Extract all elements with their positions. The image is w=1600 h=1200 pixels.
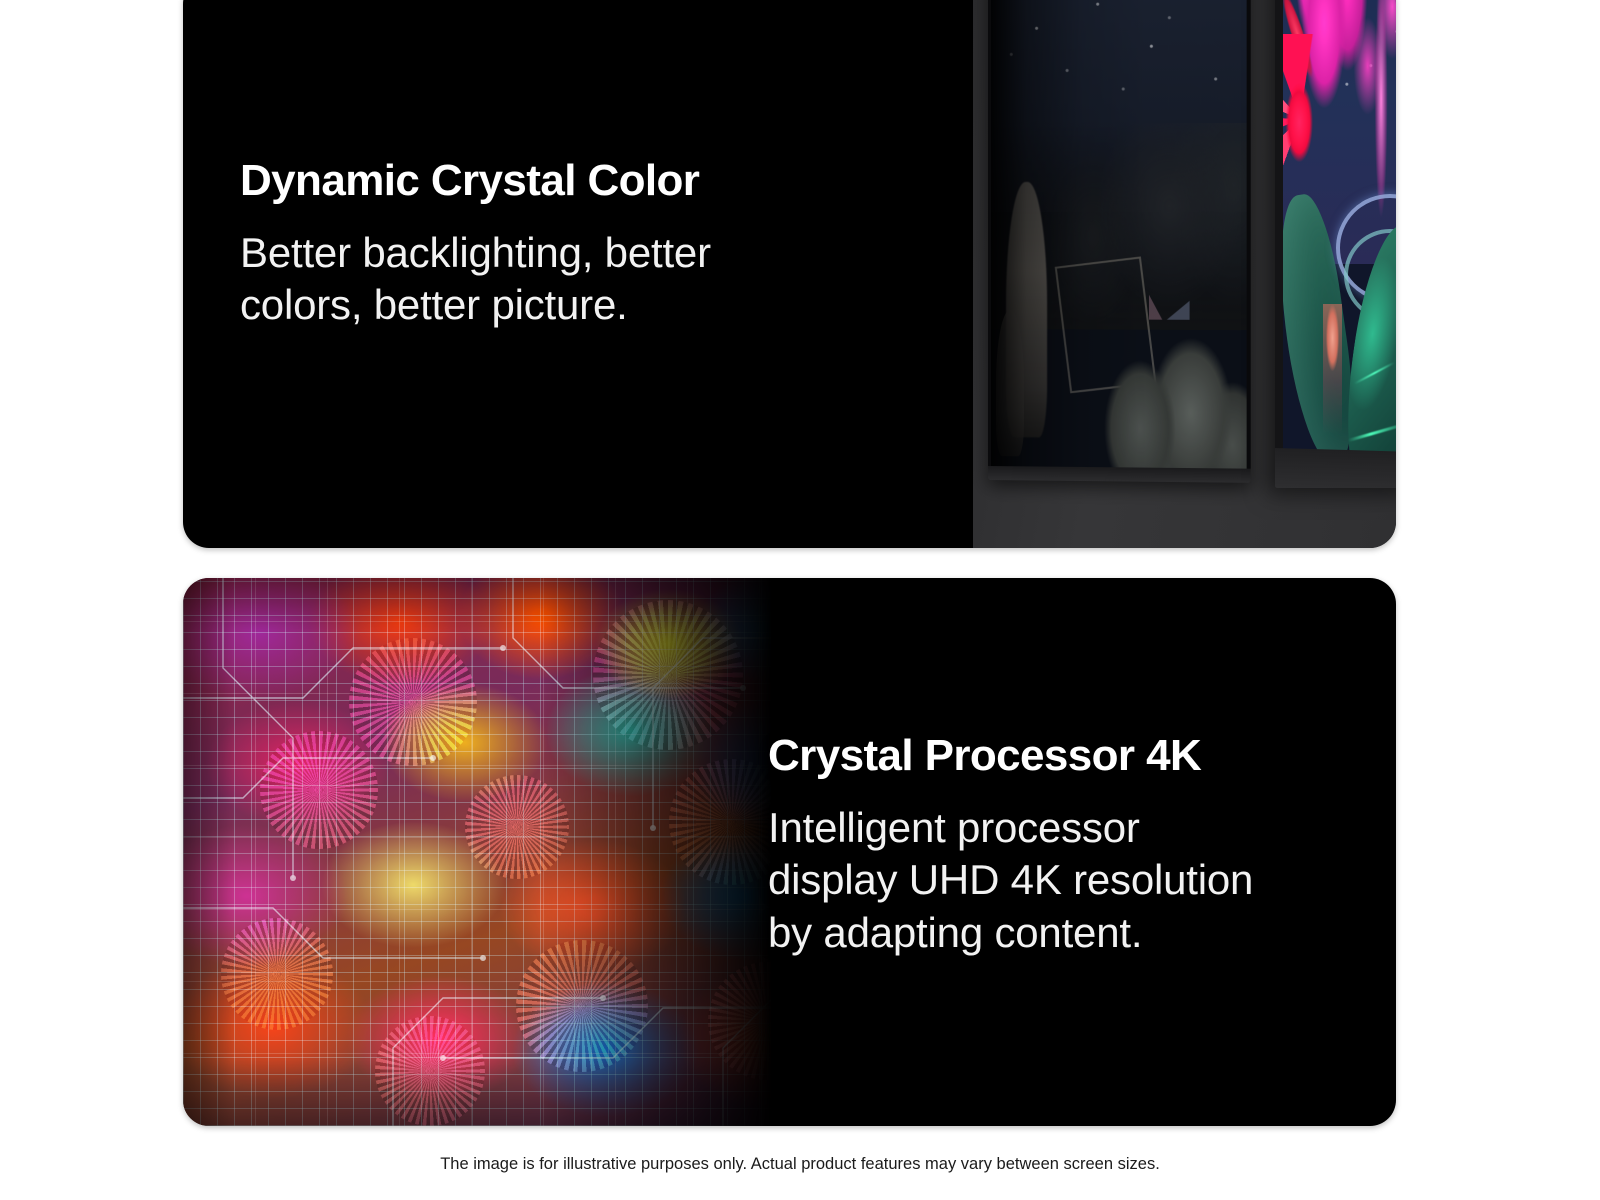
tv-left-screen	[991, 0, 1247, 469]
panel-2-subcopy: Intelligent processor display UHD 4K res…	[768, 802, 1348, 960]
panel-2-subcopy-line-3: by adapting content.	[768, 909, 1142, 956]
panel-2-headline: Crystal Processor 4K	[768, 733, 1348, 780]
panel-2-copy: Crystal Processor 4K Intelligent process…	[768, 733, 1348, 959]
disclaimer-note: The image is for illustrative purposes o…	[0, 1155, 1600, 1174]
tv-right-bottom-bezel	[1275, 448, 1396, 488]
bazaar-to-black-fade	[183, 578, 823, 1126]
panel-1-subcopy-line-2: colors, better picture.	[240, 281, 628, 328]
tv-right-screen	[1283, 0, 1396, 454]
panel-1-copy: Dynamic Crystal Color Better backlightin…	[240, 158, 940, 332]
tv-left-dim	[988, 0, 1251, 483]
marketing-feature-stage: Dynamic Crystal Color Better backlightin…	[0, 0, 1600, 1200]
panel-dynamic-crystal-color: Dynamic Crystal Color Better backlightin…	[183, 0, 1396, 548]
vivid-red-monstera-leaf	[1283, 34, 1320, 204]
panel-1-headline: Dynamic Crystal Color	[240, 158, 940, 205]
tv-left-bottom-bezel	[988, 466, 1251, 483]
panel-1-subcopy: Better backlighting, better colors, bett…	[240, 227, 940, 332]
panel-crystal-processor-4k: SAMSUNG Crystal UHD Processor 4K Crystal…	[183, 578, 1396, 1126]
tv-right-vivid	[1275, 0, 1396, 488]
dim-vignette	[991, 0, 1247, 469]
panel-2-subcopy-line-2: display UHD 4K resolution	[768, 856, 1253, 903]
panel-1-subcopy-line-1: Better backlighting, better	[240, 229, 711, 276]
panel-2-subcopy-line-1: Intelligent processor	[768, 804, 1140, 851]
bazaar-media	[183, 578, 823, 1126]
vivid-bromeliad-bloom	[1323, 304, 1342, 434]
